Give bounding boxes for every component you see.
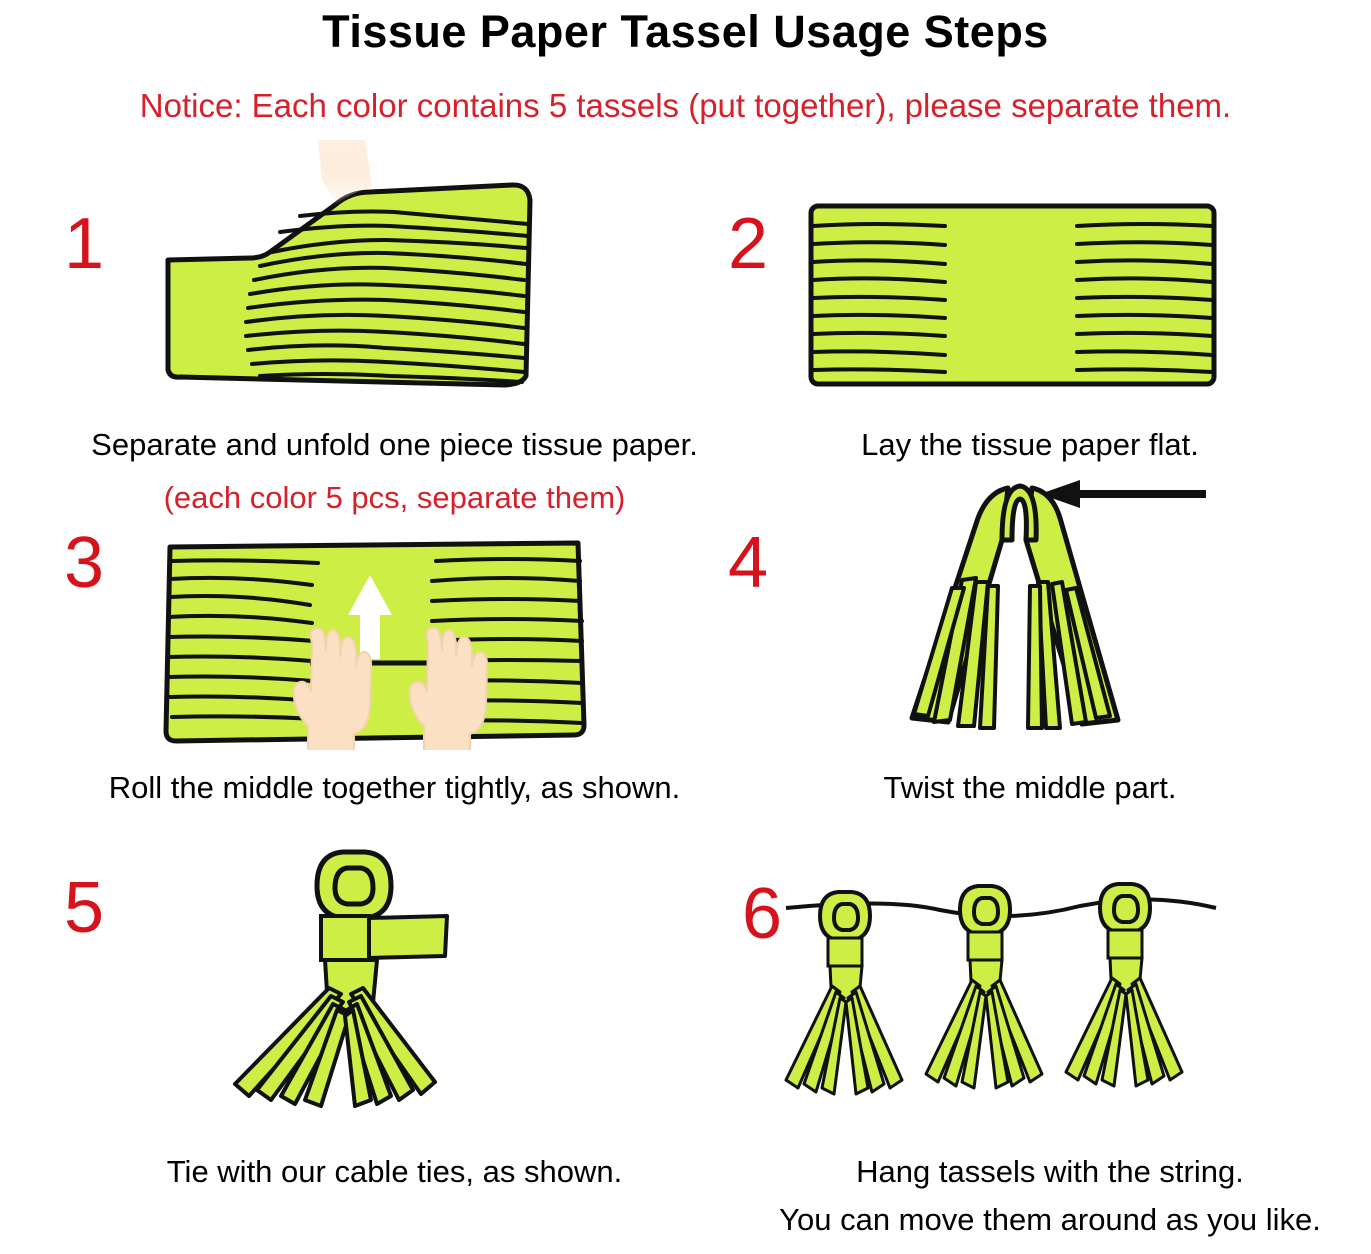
left-pointing-arrow-icon [1040,480,1206,508]
step-5-illustration [195,838,575,1123]
step-number-1: 1 [64,208,104,280]
notice-text: Notice: Each color contains 5 tassels (p… [0,86,1371,126]
step-6-illustration [780,880,1220,1120]
fringe-strands [235,988,435,1106]
step-2-caption: Lay the tissue paper flat. [770,425,1290,465]
step-number-6: 6 [742,878,782,950]
step-6-caption: Hang tassels with the string. [770,1152,1330,1192]
step-6-caption-sub: You can move them around as you like. [740,1200,1360,1240]
tassel-3 [1066,884,1182,1086]
tassel-loop [1002,486,1036,540]
step-3-illustration [160,535,590,750]
step-4-illustration [890,470,1210,745]
step-1-caption: Separate and unfold one piece tissue pap… [22,425,767,465]
tassel-loop [317,852,391,918]
step-5-caption: Tie with our cable ties, as shown. [22,1152,767,1192]
step-3-caption: Roll the middle together tightly, as sho… [22,768,767,808]
cable-tie-tail [369,916,447,958]
fringe-strands-left [914,578,998,728]
step-4-caption: Twist the middle part. [770,768,1290,808]
step-2-illustration [805,200,1220,390]
tassel-1 [786,892,902,1094]
step-number-2: 2 [728,208,768,280]
step-1-caption-sub: (each color 5 pcs, separate them) [22,478,767,518]
step-number-5: 5 [64,872,104,944]
step-1-illustration [150,140,570,400]
page-title: Tissue Paper Tassel Usage Steps [0,4,1371,60]
step-number-3: 3 [64,527,104,599]
step-number-4: 4 [728,527,768,599]
cable-tie-band [321,916,369,960]
